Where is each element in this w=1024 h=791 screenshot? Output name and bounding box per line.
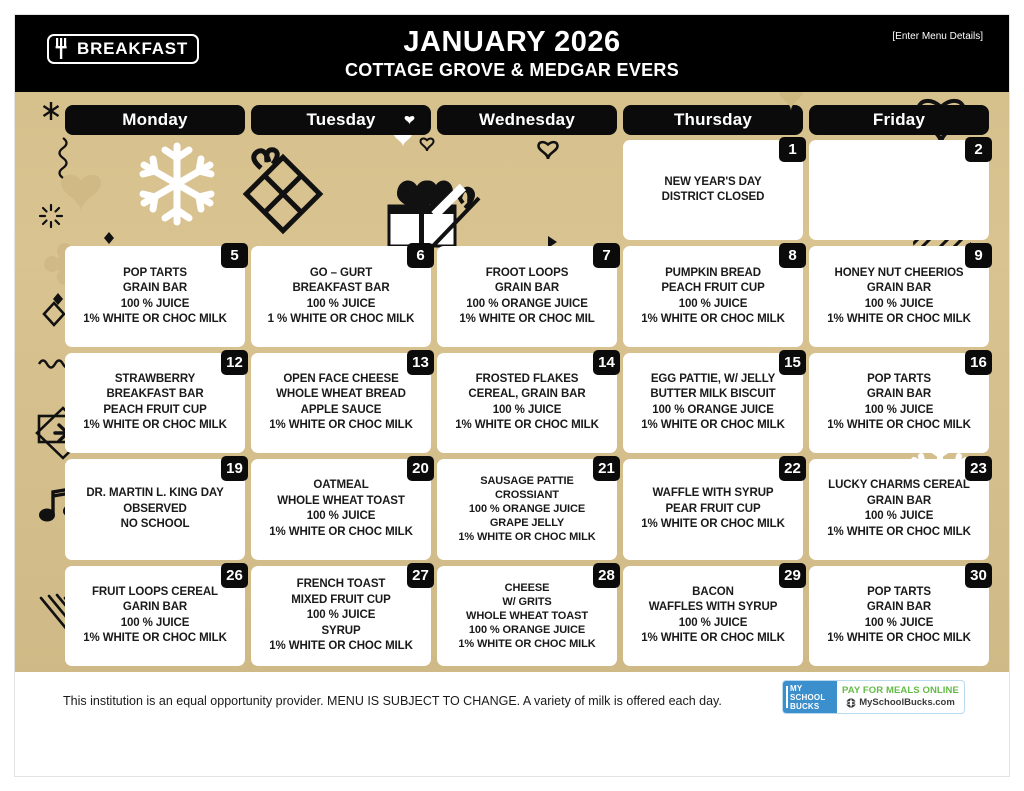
menu-item-line: 1% WHITE OR CHOC MILK bbox=[455, 418, 599, 434]
menu-item-line: 1% WHITE OR CHOC MILK bbox=[641, 517, 785, 533]
menu-item-line: BREAKFAST BAR bbox=[292, 281, 389, 297]
menu-item-line: GRAPE JELLY bbox=[490, 516, 564, 530]
heart-icon bbox=[775, 92, 807, 112]
menu-item-line: 1% WHITE OR CHOC MILK bbox=[641, 312, 785, 328]
menu-item-line: WHOLE WHEAT TOAST bbox=[277, 494, 405, 510]
menu-item-line: SYRUP bbox=[321, 624, 360, 640]
menu-item-line: FROOT LOOPS bbox=[486, 266, 569, 282]
fork-icon bbox=[55, 38, 72, 60]
calendar-day-cell[interactable]: 30POP TARTSGRAIN BAR100 % JUICE1% WHITE … bbox=[809, 566, 989, 666]
enter-menu-details[interactable]: [Enter Menu Details] bbox=[892, 31, 983, 42]
breakfast-label: BREAKFAST bbox=[77, 39, 188, 59]
day-number-badge: 12 bbox=[221, 350, 248, 375]
menu-item-line: WAFFLES WITH SYRUP bbox=[649, 600, 778, 616]
day-number-badge: 6 bbox=[407, 243, 434, 268]
menu-item-line: 1% WHITE OR CHOC MILK bbox=[83, 418, 227, 434]
day-number-badge: 14 bbox=[593, 350, 620, 375]
menu-page: BREAKFAST JANUARY 2026 COTTAGE GROVE & M… bbox=[0, 0, 1024, 791]
menu-item-line: 100 % JUICE bbox=[307, 297, 376, 313]
menu-item-line: BREAKFAST BAR bbox=[106, 387, 203, 403]
menu-item-line: 100 % JUICE bbox=[865, 509, 934, 525]
calendar-day-cell[interactable]: 14FROSTED FLAKESCEREAL, GRAIN BAR100 % J… bbox=[437, 353, 617, 453]
page-header: BREAKFAST JANUARY 2026 COTTAGE GROVE & M… bbox=[15, 15, 1009, 92]
weekday-label: Friday bbox=[873, 110, 925, 130]
asterisk-icon bbox=[41, 100, 61, 122]
calendar-day-cell[interactable]: 29BACONWAFFLES WITH SYRUP100 % JUICE1% W… bbox=[623, 566, 803, 666]
menu-item-line: WAFFLE WITH SYRUP bbox=[653, 486, 774, 502]
menu-item-line: 100 % JUICE bbox=[121, 297, 190, 313]
calendar-area: HAPPYNEWYEAR bbox=[15, 92, 1009, 672]
globe-icon bbox=[846, 698, 856, 708]
diamond-icon bbox=[41, 300, 67, 328]
msb-url-row: MySchoolBucks.com bbox=[846, 697, 955, 709]
menu-item-line: WHOLE WHEAT BREAD bbox=[276, 387, 406, 403]
msb-url: MySchoolBucks.com bbox=[859, 697, 955, 709]
menu-item-line: FRENCH TOAST bbox=[297, 577, 386, 593]
menu-item-line: 1% WHITE OR CHOC MILK bbox=[269, 525, 413, 541]
menu-item-line: CHEESE bbox=[505, 581, 550, 595]
day-number-badge: 29 bbox=[779, 563, 806, 588]
day-number-badge: 26 bbox=[221, 563, 248, 588]
menu-item-line: GRAIN BAR bbox=[867, 494, 931, 510]
menu-item-line: GO – GURT bbox=[310, 266, 372, 282]
menu-item-line: NEW YEAR'S DAY bbox=[664, 175, 761, 191]
menu-item-line: OATMEAL bbox=[313, 478, 368, 494]
weekday-label: Tuesday bbox=[306, 110, 375, 130]
menu-item-line: BUTTER MILK BISCUIT bbox=[650, 387, 775, 403]
calendar-day-cell[interactable]: 20OATMEALWHOLE WHEAT TOAST100 % JUICE1% … bbox=[251, 459, 431, 559]
menu-item-line: 1% WHITE OR CHOC MILK bbox=[827, 312, 971, 328]
calendar-day-cell[interactable]: 15EGG PATTIE, W/ JELLYBUTTER MILK BISCUI… bbox=[623, 353, 803, 453]
weekday-label: Monday bbox=[122, 110, 187, 130]
menu-item-line: 1% WHITE OR CHOC MILK bbox=[641, 631, 785, 647]
calendar-day-cell[interactable]: 27FRENCH TOASTMIXED FRUIT CUP100 % JUICE… bbox=[251, 566, 431, 666]
msb-line-my: MY bbox=[790, 684, 837, 693]
menu-item-line: DISTRICT CLOSED bbox=[662, 190, 765, 206]
menu-item-line: POP TARTS bbox=[867, 372, 931, 388]
day-number-badge: 5 bbox=[221, 243, 248, 268]
menu-item-line: DR. MARTIN L. KING DAY bbox=[86, 486, 223, 502]
menu-item-line: 1% WHITE OR CHOC MILK bbox=[827, 631, 971, 647]
menu-item-line: LUCKY CHARMS CEREAL bbox=[828, 478, 970, 494]
weekday-header-row: Monday Tuesday Wednesday Thursday Friday bbox=[65, 105, 989, 135]
calendar-empty-cell bbox=[437, 140, 617, 240]
day-number-badge: 22 bbox=[779, 456, 806, 481]
menu-item-line: 100 % JUICE bbox=[493, 403, 562, 419]
msb-tagline: PAY FOR MEALS ONLINE bbox=[842, 685, 959, 697]
menu-item-line: 1% WHITE OR CHOC MIL bbox=[459, 312, 594, 328]
menu-item-line: GRAIN BAR bbox=[867, 600, 931, 616]
menu-item-line: 100 % ORANGE JUICE bbox=[469, 502, 585, 516]
breakfast-badge: BREAKFAST bbox=[47, 34, 199, 64]
calendar-day-cell[interactable]: 23LUCKY CHARMS CEREALGRAIN BAR100 % JUIC… bbox=[809, 459, 989, 559]
menu-item-line: BACON bbox=[692, 585, 734, 601]
calendar-day-cell[interactable]: 1NEW YEAR'S DAYDISTRICT CLOSED bbox=[623, 140, 803, 240]
menu-item-line: 1% WHITE OR CHOC MILK bbox=[83, 312, 227, 328]
day-number-badge: 2 bbox=[965, 137, 992, 162]
menu-item-line: HONEY NUT CHEERIOS bbox=[835, 266, 964, 282]
day-number-badge: 27 bbox=[407, 563, 434, 588]
menu-item-line: OPEN FACE CHEESE bbox=[283, 372, 398, 388]
calendar-grid: 1NEW YEAR'S DAYDISTRICT CLOSED25POP TART… bbox=[65, 140, 989, 666]
menu-item-line: FROSTED FLAKES bbox=[476, 372, 579, 388]
calendar-empty-cell bbox=[251, 140, 431, 240]
menu-item-line: OBSERVED bbox=[123, 502, 187, 518]
calendar-day-cell[interactable]: 9HONEY NUT CHEERIOSGRAIN BAR100 % JUICE1… bbox=[809, 246, 989, 346]
myschoolbucks-wordmark: MY SCHOOL BUCKS bbox=[783, 681, 837, 713]
calendar-day-cell[interactable]: 6GO – GURTBREAKFAST BAR100 % JUICE1 % WH… bbox=[251, 246, 431, 346]
calendar-day-cell[interactable]: 19DR. MARTIN L. KING DAYOBSERVEDNO SCHOO… bbox=[65, 459, 245, 559]
menu-item-line: 100 % JUICE bbox=[865, 616, 934, 632]
calendar-empty-cell bbox=[65, 140, 245, 240]
calendar-day-cell[interactable]: 28CHEESEW/ GRITSWHOLE WHEAT TOAST100 % O… bbox=[437, 566, 617, 666]
menu-item-line: 1% WHITE OR CHOC MILK bbox=[827, 418, 971, 434]
menu-item-line: POP TARTS bbox=[123, 266, 187, 282]
menu-item-line: 100 % JUICE bbox=[865, 403, 934, 419]
menu-item-line: GRAIN BAR bbox=[123, 281, 187, 297]
weekday-header-tuesday: Tuesday bbox=[251, 105, 431, 135]
menu-item-line: PUMPKIN BREAD bbox=[665, 266, 761, 282]
menu-item-line: GRAIN BAR bbox=[867, 387, 931, 403]
menu-item-line: GRAIN BAR bbox=[867, 281, 931, 297]
menu-item-line: 1% WHITE OR CHOC MILK bbox=[458, 530, 595, 544]
menu-item-line: SAUSAGE PATTIE bbox=[480, 474, 574, 488]
calendar-day-cell[interactable]: 5POP TARTSGRAIN BAR100 % JUICE1% WHITE O… bbox=[65, 246, 245, 346]
sparkle-icon bbox=[37, 202, 65, 230]
weekday-label: Thursday bbox=[674, 110, 752, 130]
menu-item-line: W/ GRITS bbox=[502, 595, 551, 609]
day-number-badge: 21 bbox=[593, 456, 620, 481]
menu-item-line: 1% WHITE OR CHOC MILK bbox=[269, 639, 413, 655]
calendar-day-cell[interactable]: 12STRAWBERRYBREAKFAST BARPEACH FRUIT CUP… bbox=[65, 353, 245, 453]
calendar-day-cell[interactable]: 21SAUSAGE PATTIECROSSIANT100 % ORANGE JU… bbox=[437, 459, 617, 559]
msb-line-bucks: BUCKS bbox=[790, 702, 837, 711]
menu-item-line: 100 % ORANGE JUICE bbox=[466, 297, 588, 313]
menu-item-line: WHOLE WHEAT TOAST bbox=[466, 609, 588, 623]
day-number-badge: 1 bbox=[779, 137, 806, 162]
day-number-badge: 16 bbox=[965, 350, 992, 375]
weekday-label: Wednesday bbox=[479, 110, 575, 130]
heart-icon bbox=[404, 115, 415, 125]
menu-item-line: GRAIN BAR bbox=[495, 281, 559, 297]
calendar-day-cell[interactable]: 16POP TARTSGRAIN BAR100 % JUICE1% WHITE … bbox=[809, 353, 989, 453]
menu-item-line: 100 % JUICE bbox=[679, 616, 748, 632]
menu-item-line: 1% WHITE OR CHOC MILK bbox=[641, 418, 785, 434]
day-number-badge: 23 bbox=[965, 456, 992, 481]
menu-item-line: 100 % JUICE bbox=[679, 297, 748, 313]
menu-item-line: EGG PATTIE, W/ JELLY bbox=[651, 372, 775, 388]
calendar-day-cell[interactable]: 7FROOT LOOPSGRAIN BAR100 % ORANGE JUICE1… bbox=[437, 246, 617, 346]
myschoolbucks-logo[interactable]: MY SCHOOL BUCKS PAY FOR MEALS ONLINE MyS… bbox=[782, 680, 965, 714]
menu-item-line: 1% WHITE OR CHOC MILK bbox=[269, 418, 413, 434]
menu-item-line: POP TARTS bbox=[867, 585, 931, 601]
msb-line-school: SCHOOL bbox=[790, 693, 837, 702]
menu-item-line: CEREAL, GRAIN BAR bbox=[468, 387, 585, 403]
calendar-day-cell[interactable]: 13OPEN FACE CHEESEWHOLE WHEAT BREADAPPLE… bbox=[251, 353, 431, 453]
menu-item-line: 100 % ORANGE JUICE bbox=[652, 403, 774, 419]
day-number-badge: 28 bbox=[593, 563, 620, 588]
day-number-badge: 30 bbox=[965, 563, 992, 588]
calendar-day-cell[interactable]: 22WAFFLE WITH SYRUPPEAR FRUIT CUP1% WHIT… bbox=[623, 459, 803, 559]
menu-item-line: MIXED FRUIT CUP bbox=[291, 593, 390, 609]
calendar-day-cell[interactable]: 2 bbox=[809, 140, 989, 240]
day-number-badge: 19 bbox=[221, 456, 248, 481]
menu-item-line: 100 % ORANGE JUICE bbox=[469, 623, 585, 637]
menu-item-line: CROSSIANT bbox=[495, 488, 559, 502]
weekday-header-monday: Monday bbox=[65, 105, 245, 135]
menu-item-line: 100 % JUICE bbox=[307, 509, 376, 525]
disclaimer-text: This institution is an equal opportunity… bbox=[63, 694, 722, 708]
menu-item-line: 1% WHITE OR CHOC MILK bbox=[827, 525, 971, 541]
menu-item-line: 1 % WHITE OR CHOC MILK bbox=[268, 312, 415, 328]
diamond-dot-icon bbox=[51, 292, 65, 306]
weekday-header-wednesday: Wednesday bbox=[437, 105, 617, 135]
page-footer: This institution is an equal opportunity… bbox=[15, 672, 1009, 776]
menu-item-line: PEACH FRUIT CUP bbox=[103, 403, 206, 419]
calendar-day-cell[interactable]: 8PUMPKIN BREADPEACH FRUIT CUP100 % JUICE… bbox=[623, 246, 803, 346]
menu-item-line: PEAR FRUIT CUP bbox=[665, 502, 760, 518]
day-number-badge: 7 bbox=[593, 243, 620, 268]
menu-item-line: FRUIT LOOPS CEREAL bbox=[92, 585, 218, 601]
day-number-badge: 20 bbox=[407, 456, 434, 481]
day-number-badge: 8 bbox=[779, 243, 806, 268]
menu-item-line: 100 % JUICE bbox=[307, 608, 376, 624]
menu-item-line: GARIN BAR bbox=[123, 600, 187, 616]
menu-item-line: 100 % JUICE bbox=[865, 297, 934, 313]
menu-item-line: 1% WHITE OR CHOC MILK bbox=[458, 637, 595, 651]
day-number-badge: 9 bbox=[965, 243, 992, 268]
menu-item-line: STRAWBERRY bbox=[115, 372, 195, 388]
day-number-badge: 13 bbox=[407, 350, 434, 375]
menu-sheet: BREAKFAST JANUARY 2026 COTTAGE GROVE & M… bbox=[14, 14, 1010, 777]
myschoolbucks-text: PAY FOR MEALS ONLINE MySchoolBucks.com bbox=[837, 681, 964, 713]
menu-item-line: NO SCHOOL bbox=[121, 517, 190, 533]
weekday-header-friday: Friday bbox=[809, 105, 989, 135]
menu-item-line: 1% WHITE OR CHOC MILK bbox=[83, 631, 227, 647]
menu-item-line: PEACH FRUIT CUP bbox=[661, 281, 764, 297]
calendar-day-cell[interactable]: 26FRUIT LOOPS CEREALGARIN BAR100 % JUICE… bbox=[65, 566, 245, 666]
day-number-badge: 15 bbox=[779, 350, 806, 375]
menu-item-line: 100 % JUICE bbox=[121, 616, 190, 632]
menu-item-line: APPLE SAUCE bbox=[301, 403, 382, 419]
